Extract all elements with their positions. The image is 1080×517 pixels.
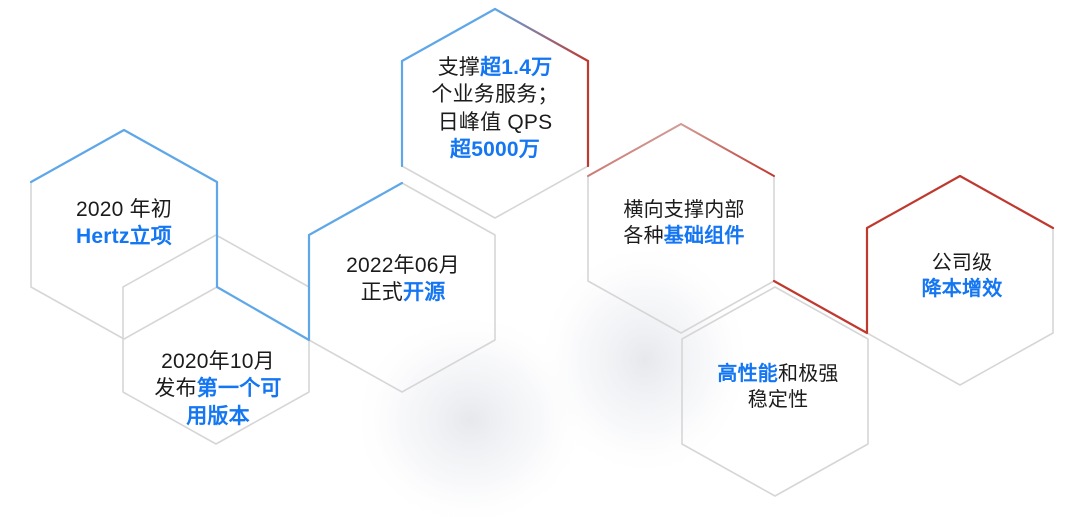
path-gradient-transition <box>495 9 588 61</box>
hex-outline-hertz-kickoff <box>31 130 217 339</box>
path-blue-segment-upper <box>402 9 495 166</box>
path-red-hex5-left <box>588 124 774 176</box>
path-blue-segment <box>31 130 402 340</box>
hexagon-diagram-canvas: 2020 年初Hertz立项 2020年10月发布第一个可用版本 2022年06… <box>0 0 1080 517</box>
background-blur-right <box>535 240 755 480</box>
hexagon-outlines-svg <box>0 0 1080 517</box>
hex-outline-company-efficiency <box>867 176 1053 385</box>
hex-outline-scale-qps <box>402 9 588 218</box>
